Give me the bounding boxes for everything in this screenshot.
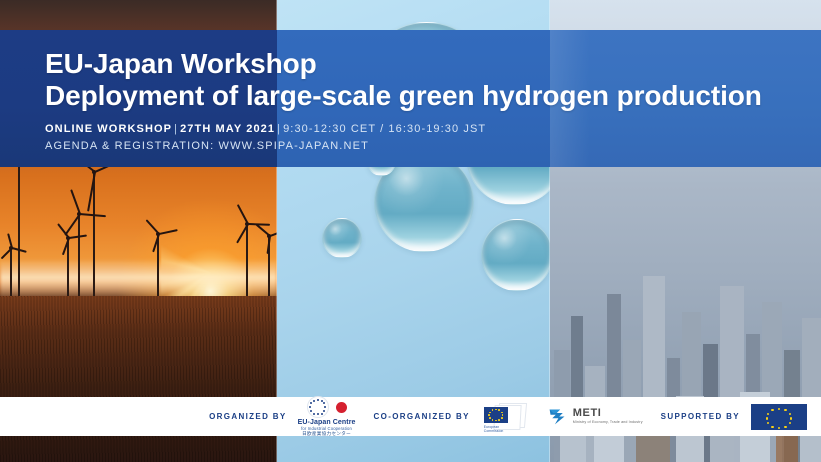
field-ground bbox=[0, 296, 277, 462]
eu-japan-centre-logo: EU-Japan Centre for Industrial Cooperati… bbox=[298, 396, 356, 437]
wind-turbine-icon bbox=[67, 238, 69, 296]
supported-by-label: SUPPORTED BY bbox=[661, 412, 740, 421]
water-drop bbox=[481, 219, 550, 291]
wind-turbine-icon bbox=[10, 248, 12, 296]
eu-japan-centre-japanese: 日欧産業協力センター bbox=[302, 432, 351, 437]
eu-stars-icon bbox=[307, 396, 329, 418]
ec-wordmark: European Commission bbox=[484, 425, 504, 434]
header-banner: EU-Japan Workshop Deployment of large-sc… bbox=[0, 30, 821, 167]
ec-line2: Commission bbox=[484, 429, 504, 433]
meti-acronym: METI bbox=[573, 408, 643, 419]
page-title-line1: EU-Japan Workshop bbox=[45, 48, 797, 80]
event-date: 27TH MAY 2021 bbox=[180, 123, 275, 135]
sponsor-footer: ORGANIZED BY bbox=[0, 397, 821, 436]
meti-full-name: Ministry of Economy, Trade and Industry bbox=[573, 421, 643, 425]
wind-turbine-icon bbox=[246, 224, 248, 296]
ec-line1: European bbox=[484, 425, 500, 429]
wind-turbine-icon bbox=[93, 172, 95, 296]
event-meta: ONLINE WORKSHOP|27TH MAY 2021|9:30-12:30… bbox=[45, 122, 797, 154]
event-times: 9:30-12:30 CET / 16:30-19:30 JST bbox=[283, 123, 486, 135]
event-meta-row1: ONLINE WORKSHOP|27TH MAY 2021|9:30-12:30… bbox=[45, 122, 797, 137]
co-organized-by-label: CO-ORGANIZED BY bbox=[374, 412, 470, 421]
organized-by-label: ORGANIZED BY bbox=[209, 412, 287, 421]
eu-flag-icon bbox=[751, 404, 807, 430]
workshop-poster: EU-Japan Workshop Deployment of large-sc… bbox=[0, 0, 821, 462]
japan-sun-icon bbox=[336, 402, 347, 413]
meti-wordmark: METI Ministry of Economy, Trade and Indu… bbox=[573, 408, 643, 425]
water-drop bbox=[322, 218, 362, 258]
registration-line: AGENDA & REGISTRATION: WWW.SPIPA-JAPAN.N… bbox=[45, 139, 797, 154]
eu-japan-marks bbox=[307, 396, 347, 418]
wind-turbine-icon bbox=[157, 234, 159, 296]
wind-turbine-icon bbox=[268, 236, 270, 296]
meti-mark-icon bbox=[547, 406, 568, 427]
meti-logo: METI Ministry of Economy, Trade and Indu… bbox=[547, 406, 643, 427]
ec-eu-flag-icon bbox=[484, 407, 508, 423]
horizon-glow bbox=[0, 259, 277, 301]
wind-turbine-icon bbox=[78, 214, 80, 296]
event-type: ONLINE WORKSHOP bbox=[45, 123, 172, 135]
meta-separator-2: | bbox=[275, 123, 283, 135]
banner-content: EU-Japan Workshop Deployment of large-sc… bbox=[45, 48, 797, 154]
european-commission-logo: European Commission bbox=[481, 402, 529, 432]
page-title-line2: Deployment of large-scale green hydrogen… bbox=[45, 80, 797, 112]
meta-separator-1: | bbox=[172, 123, 180, 135]
